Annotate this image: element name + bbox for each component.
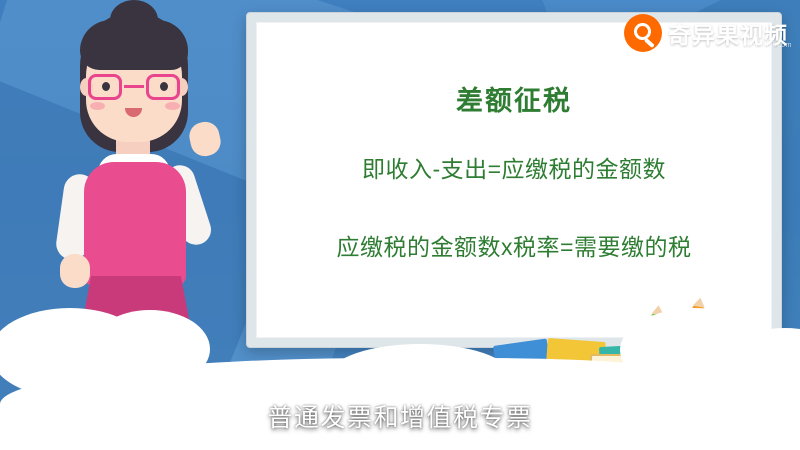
logo-tagline: www.iqiyi.com bbox=[742, 42, 792, 49]
hair-fringe bbox=[80, 20, 188, 70]
whiteboard-title: 差额征税 bbox=[257, 79, 771, 118]
video-frame: 差额征税 即收入-支出=应缴税的金额数 应缴税的金额数x税率=需要缴的税 奇异果… bbox=[0, 0, 800, 450]
whiteboard-surface: 差额征税 即收入-支出=应缴税的金额数 应缴税的金额数x税率=需要缴的税 bbox=[256, 22, 772, 338]
blush-right bbox=[165, 102, 180, 110]
eye-right bbox=[160, 82, 168, 91]
qiyi-circle-icon bbox=[624, 14, 662, 52]
glasses-bridge bbox=[124, 85, 144, 88]
eye-left bbox=[102, 82, 110, 91]
hand-right bbox=[187, 119, 223, 158]
dress-top bbox=[84, 162, 186, 286]
hand-left bbox=[60, 254, 90, 288]
whiteboard-line-1: 即收入-支出=应缴税的金额数 bbox=[257, 150, 771, 184]
blush-left bbox=[90, 102, 105, 110]
subtitle-text: 普通发票和增值税专票 bbox=[0, 398, 800, 434]
whiteboard-line-2: 应缴税的金额数x税率=需要缴的税 bbox=[257, 228, 771, 262]
